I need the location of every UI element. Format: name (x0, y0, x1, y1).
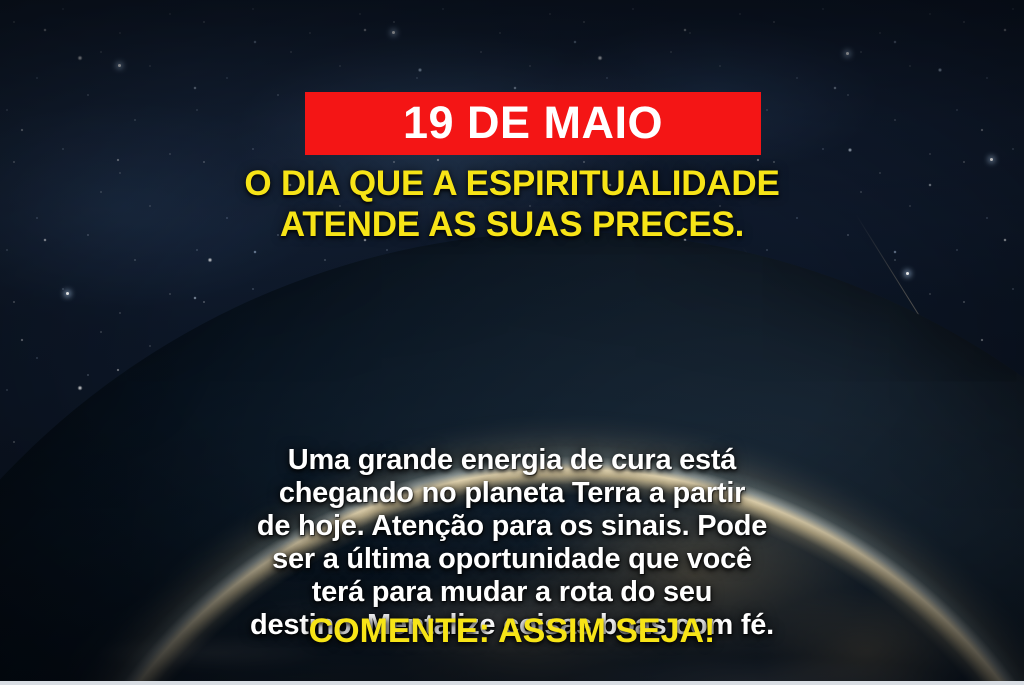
headline-line-2: ATENDE AS SUAS PRECES. (0, 204, 1024, 245)
body-line-4: ser a última oportunidade que você (0, 543, 1024, 576)
date-banner: 19 DE MAIO (305, 92, 761, 155)
body-line-2: chegando no planeta Terra a partir (0, 477, 1024, 510)
headline-line-1: O DIA QUE A ESPIRITUALIDADE (0, 163, 1024, 204)
text-content: 19 DE MAIO O DIA QUE A ESPIRITUALIDADE A… (0, 0, 1024, 685)
bottom-edge-strip (0, 681, 1024, 685)
date-banner-text: 19 DE MAIO (403, 100, 663, 145)
call-to-action-text: COMENTE: ASSIM SEJA! (0, 614, 1024, 648)
body-line-1: Uma grande energia de cura está (0, 444, 1024, 477)
headline: O DIA QUE A ESPIRITUALIDADE ATENDE AS SU… (0, 163, 1024, 245)
poster-image: 19 DE MAIO O DIA QUE A ESPIRITUALIDADE A… (0, 0, 1024, 685)
body-line-5: terá para mudar a rota do seu (0, 576, 1024, 609)
body-line-3: de hoje. Atenção para os sinais. Pode (0, 510, 1024, 543)
